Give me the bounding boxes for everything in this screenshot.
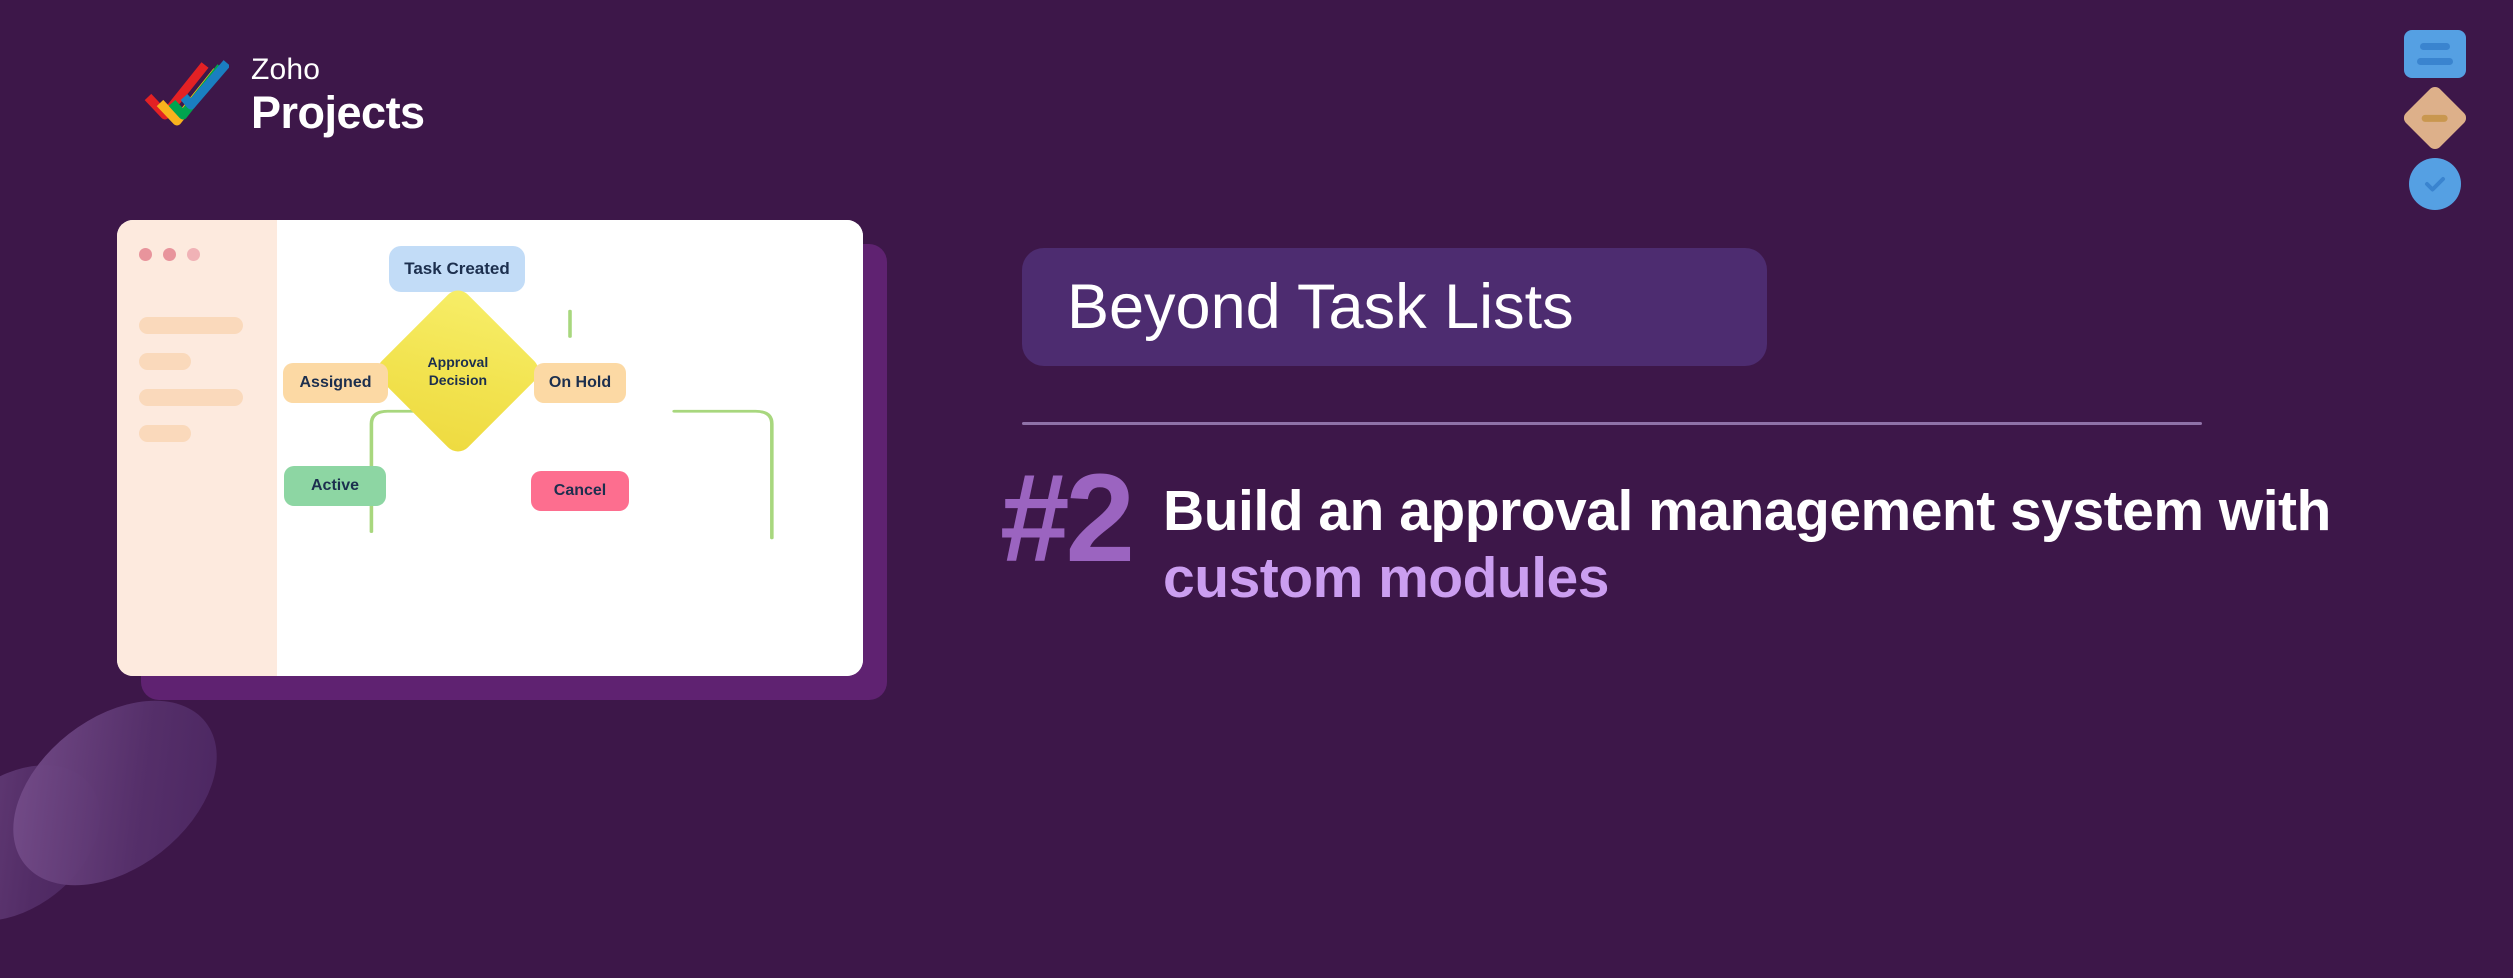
flow-node-cancel[interactable]: Cancel: [531, 471, 629, 511]
flow-node-label: Assigned: [299, 374, 371, 392]
sidebar-placeholder-3: [139, 389, 243, 406]
decorative-icon-stack: [2404, 30, 2466, 210]
flow-node-on-hold[interactable]: On Hold: [534, 363, 626, 403]
brand-logo: Zoho Projects: [143, 55, 425, 135]
mockup-sidebar: [117, 220, 277, 676]
blob-secondary: [0, 733, 130, 952]
sidebar-placeholder-4: [139, 425, 191, 442]
flow-node-assigned[interactable]: Assigned: [283, 363, 388, 403]
page-title: Build an approval management system with…: [1163, 468, 2420, 613]
approval-label-line1: Approval: [428, 354, 489, 370]
flow-node-label: On Hold: [549, 374, 611, 392]
mockup-window: Task Created Approval Decision Assigned …: [117, 220, 863, 676]
flow-node-label: Active: [311, 477, 359, 495]
flow-node-label: Task Created: [404, 259, 510, 279]
check-circle-icon: [2409, 158, 2461, 210]
eyebrow-pill: Beyond Task Lists: [1022, 248, 1767, 366]
background-blobs: [0, 678, 360, 978]
headline-block: #2 Build an approval management system w…: [1000, 468, 2420, 613]
app-mockup: Task Created Approval Decision Assigned …: [117, 220, 887, 700]
card-icon-bar-bottom: [2417, 58, 2453, 65]
flow-node-active[interactable]: Active: [284, 466, 386, 506]
brand-name-top: Zoho: [251, 55, 425, 85]
window-traffic-lights: [139, 248, 255, 261]
rank-number: #2: [1000, 460, 1131, 579]
card-icon-bar-top: [2420, 43, 2450, 50]
diamond-icon-bar: [2422, 115, 2448, 122]
window-dot-minimize[interactable]: [163, 248, 176, 261]
window-dot-maximize[interactable]: [187, 248, 200, 261]
eyebrow-text: Beyond Task Lists: [1067, 271, 1574, 343]
brand-name-bottom: Projects: [251, 90, 425, 135]
check-glyph-icon: [2420, 169, 2450, 199]
sidebar-placeholder-1: [139, 317, 243, 334]
flow-node-task-created[interactable]: Task Created: [389, 246, 525, 292]
blob-primary: [0, 663, 252, 923]
flow-node-label: Approval Decision: [428, 354, 489, 389]
sidebar-placeholder-2: [139, 353, 191, 370]
window-dot-close[interactable]: [139, 248, 152, 261]
diamond-icon: [2401, 84, 2469, 152]
flow-connectors: [277, 220, 863, 676]
card-icon: [2404, 30, 2466, 78]
flow-node-label: Cancel: [554, 482, 606, 500]
zoho-checkmark-logo-icon: [143, 55, 229, 135]
approval-label-line2: Decision: [429, 371, 487, 387]
headline-main: Build an approval management system with: [1163, 479, 2331, 543]
headline-accent: custom modules: [1163, 546, 1609, 610]
mockup-canvas: Task Created Approval Decision Assigned …: [277, 220, 863, 676]
section-divider: [1022, 422, 2202, 425]
